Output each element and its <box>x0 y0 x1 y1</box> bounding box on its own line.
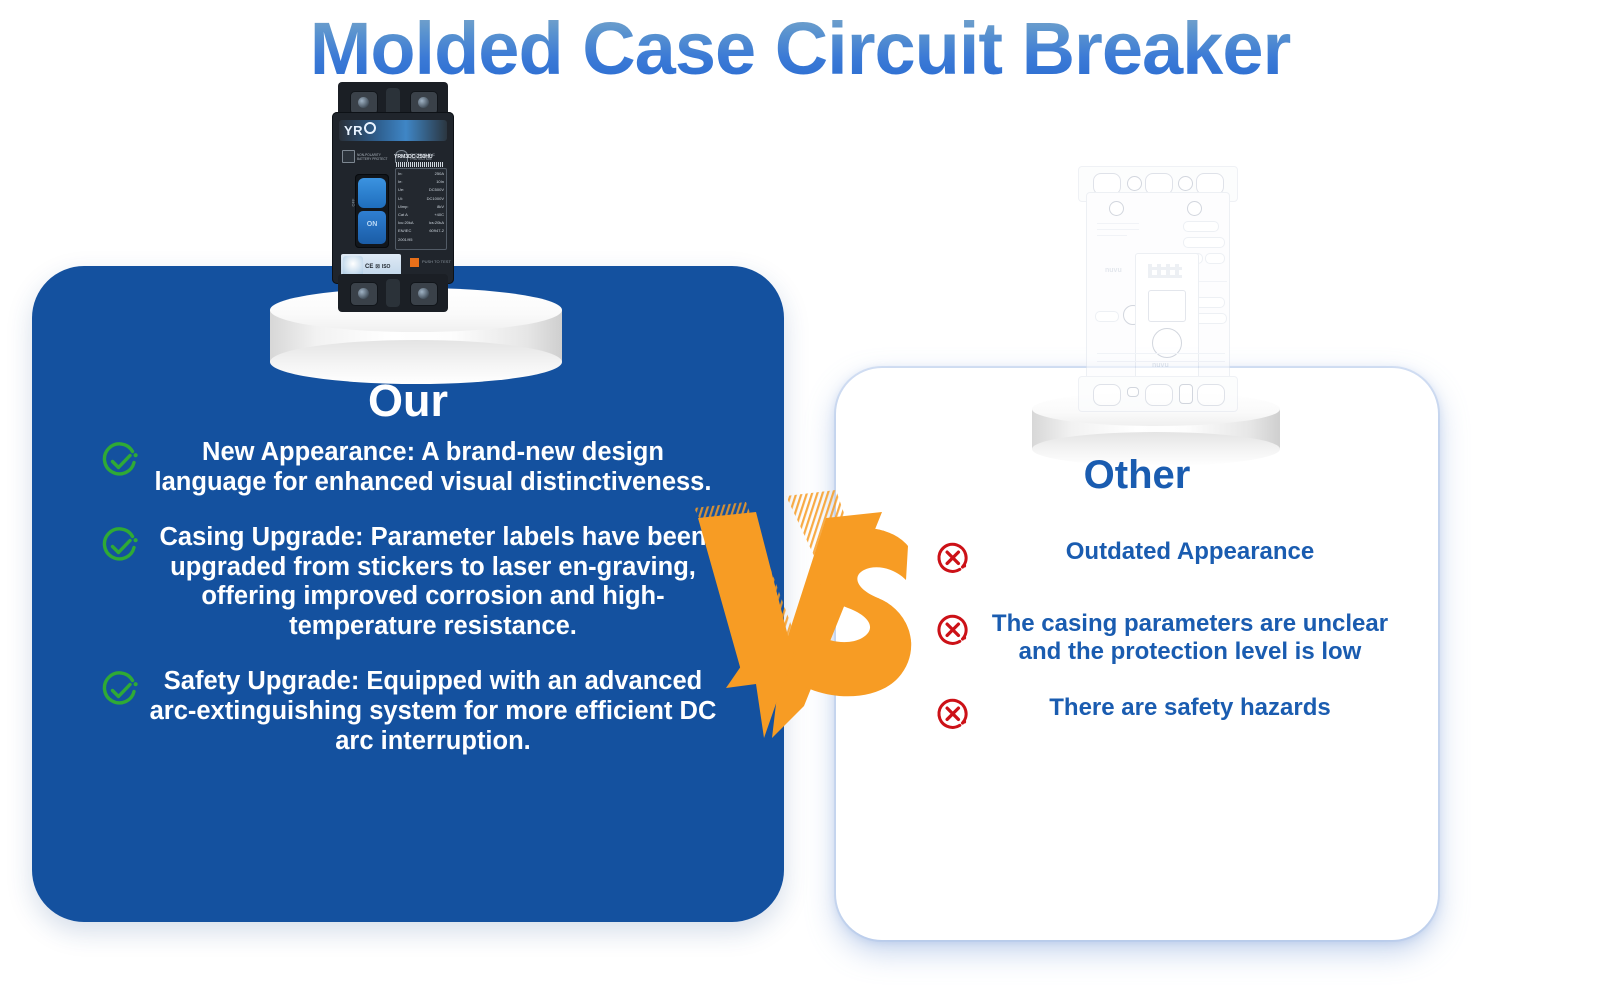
ghost-screw <box>1127 387 1139 397</box>
check-circle-icon-wrap <box>100 669 146 716</box>
other-bullet-list: Outdated AppearanceThe casing parameters… <box>934 538 1404 766</box>
other-bullet-item: Outdated Appearance <box>934 538 1404 582</box>
ghost-screw <box>1187 201 1202 216</box>
model-number-label: YRM3DC-250HU <box>394 154 448 160</box>
ghost-screw <box>1178 176 1193 191</box>
cross-circle-icon-wrap <box>934 539 976 582</box>
brand-dot-icon <box>364 122 376 134</box>
spec-key: Icu:20kA <box>398 221 414 225</box>
our-bullet-item: Casing Upgrade: Parameter labels have be… <box>100 523 720 641</box>
our-heading: Our <box>32 378 784 423</box>
spec-key: 2001/95 <box>398 238 412 242</box>
cross-circle-icon-wrap <box>934 611 976 654</box>
test-button[interactable] <box>410 258 419 267</box>
ghost-terminal <box>1145 384 1173 406</box>
cross-circle-icon <box>934 539 972 577</box>
ghost-pill <box>1183 237 1225 248</box>
other-bullet-text: There are safety hazards <box>976 694 1404 722</box>
our-bullet-list: New Appearance: A brand-new design langu… <box>100 438 720 782</box>
product-image-our: YR NON-POLARITY BATTERY PROTECT PHOTOVOL… <box>332 82 454 312</box>
spec-key: Ie: <box>398 180 402 184</box>
check-circle-icon <box>100 440 142 482</box>
check-circle-icon-wrap <box>100 525 146 572</box>
badge-label-line2: BATTERY PROTECT <box>357 157 387 161</box>
product-image-other: nuvu nuvu <box>1078 166 1236 412</box>
spec-value: +40C <box>434 213 444 217</box>
page-title: Molded Case Circuit Breaker <box>0 12 1600 86</box>
check-circle-icon <box>100 525 142 567</box>
ghost-watermark: nuvu <box>1152 362 1169 369</box>
spec-row: In:250A <box>398 172 444 176</box>
ghost-screw <box>1179 384 1193 404</box>
spec-row: Cat A+40C <box>398 213 444 217</box>
our-bullet-item: New Appearance: A brand-new design langu… <box>100 438 720 497</box>
spec-row: Uimp:8kV <box>398 205 444 209</box>
test-button-label: PUSH TO TEST <box>422 259 451 264</box>
spec-value: DC1000V <box>427 197 444 201</box>
cross-circle-icon <box>934 611 972 649</box>
spec-label-plate: In:250AIe:10InUe:DC500VUi:DC1000VUimp:8k… <box>395 168 447 250</box>
brand-text: YR <box>344 123 363 138</box>
vs-badge <box>676 488 926 738</box>
our-bullet-text: Safety Upgrade: Equipped with an advance… <box>146 667 720 756</box>
other-bullet-item: There are safety hazards <box>934 694 1404 738</box>
spec-row: Icu:20kAIcs:20kA <box>398 221 444 225</box>
toggle-knob-lower[interactable]: ON <box>358 211 386 244</box>
spec-value: Ics:20kA <box>429 221 444 225</box>
ghost-screw <box>1127 176 1142 191</box>
check-circle-icon <box>100 669 142 711</box>
breaker-toggle-switch[interactable]: ON <box>355 174 389 248</box>
other-bullet-text: The casing parameters are unclear and th… <box>976 610 1404 666</box>
ghost-screw <box>1109 201 1124 216</box>
our-bullet-text: Casing Upgrade: Parameter labels have be… <box>146 523 720 641</box>
spec-value: 60947-2 <box>429 229 444 233</box>
check-circle-icon-wrap <box>100 440 146 487</box>
weee-icon: ☒ <box>375 263 379 271</box>
spec-row: Ui:DC1000V <box>398 197 444 201</box>
spec-row: EN/IEC60947-2 <box>398 229 444 233</box>
battery-icon <box>342 150 355 163</box>
brand-logo: YR <box>344 121 376 140</box>
spec-key: Ue: <box>398 188 404 192</box>
spec-value: DC500V <box>429 188 444 192</box>
ghost-toggle <box>1148 290 1186 322</box>
spec-value: 8kV <box>437 205 444 209</box>
ghost-body: nuvu nuvu <box>1086 192 1230 390</box>
spec-key: EN/IEC <box>398 229 411 233</box>
breaker-bottom-terminal-block <box>338 274 448 312</box>
other-heading: Other <box>836 455 1438 495</box>
toggle-knob-upper[interactable] <box>358 178 386 208</box>
terminal-lug <box>350 282 378 306</box>
spec-value: 250A <box>435 172 444 176</box>
ghost-terminal <box>1093 384 1121 406</box>
switch-off-label: OFF <box>351 199 356 207</box>
spec-row: 2001/95 <box>398 238 444 242</box>
center-post <box>386 279 400 307</box>
other-bullet-item: The casing parameters are unclear and th… <box>934 610 1404 666</box>
ghost-pill <box>1205 253 1225 264</box>
spec-row: Ue:DC500V <box>398 188 444 192</box>
spec-row: Ie:10In <box>398 180 444 184</box>
ghost-watermark: nuvu <box>1105 267 1122 274</box>
other-bullet-text: Outdated Appearance <box>976 538 1404 566</box>
barcode <box>396 162 444 167</box>
ghost-terminal <box>1197 384 1225 406</box>
cross-circle-icon-wrap <box>934 695 976 738</box>
ghost-vent-grid <box>1148 264 1182 278</box>
ghost-pill <box>1095 311 1119 322</box>
breaker-body: YR NON-POLARITY BATTERY PROTECT PHOTOVOL… <box>332 112 454 284</box>
our-bullet-item: Safety Upgrade: Equipped with an advance… <box>100 667 720 756</box>
switch-on-label: ON <box>358 221 386 228</box>
spec-key: Cat A <box>398 213 408 217</box>
our-bullet-text: New Appearance: A brand-new design langu… <box>146 438 720 497</box>
terminal-lug <box>410 282 438 306</box>
spec-value: 10In <box>436 180 444 184</box>
infographic-canvas: Molded Case Circuit Breaker YR <box>0 0 1600 1000</box>
vs-graphic-icon <box>676 488 926 738</box>
spec-key: In: <box>398 172 402 176</box>
spec-key: Ui: <box>398 197 403 201</box>
iso-mark: ISO <box>382 263 391 271</box>
ghost-bottom-terminals <box>1078 376 1238 412</box>
battery-protect-badge: NON-POLARITY BATTERY PROTECT <box>342 148 387 165</box>
spec-key: Uimp: <box>398 205 408 209</box>
cross-circle-icon <box>934 695 972 733</box>
ghost-switch-housing: nuvu <box>1135 253 1199 385</box>
ghost-pill <box>1183 221 1219 232</box>
ce-mark: CE <box>365 263 373 271</box>
